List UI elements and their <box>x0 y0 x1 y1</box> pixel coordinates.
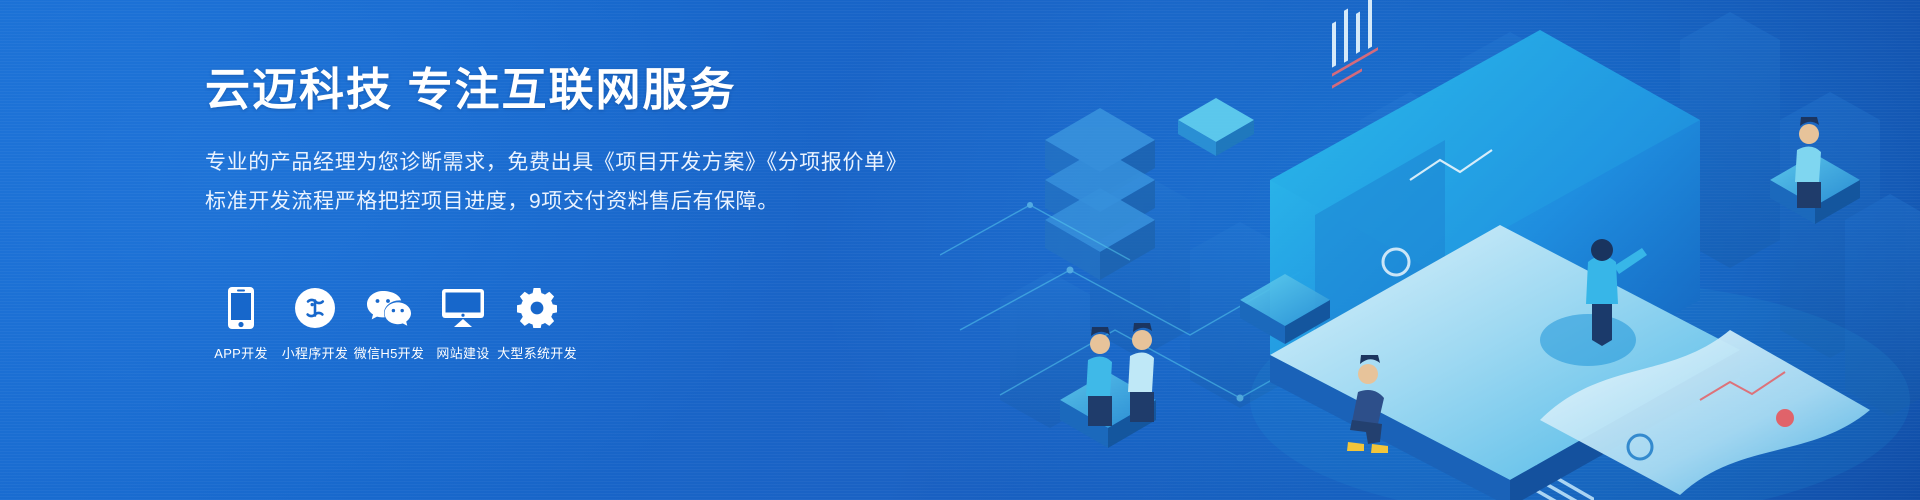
service-label-large-system: 大型系统开发 <box>497 343 577 362</box>
service-label-wechat-h5: 微信H5开发 <box>354 343 424 362</box>
mini-program-icon <box>295 286 335 330</box>
service-label-mini-program: 小程序开发 <box>282 343 349 362</box>
copy-block: 云迈科技 专注互联网服务 专业的产品经理为您诊断需求，免费出具《项目开发方案》《… <box>205 62 905 222</box>
hero-banner: 云迈科技 专注互联网服务 专业的产品经理为您诊断需求，免费出具《项目开发方案》《… <box>0 0 1920 500</box>
subtitle-line-2: 标准开发流程严格把控项目进度，9项交付资料售后有保障。 <box>205 183 905 222</box>
service-list: APP开发 小程序开发 <box>205 286 575 362</box>
service-item-large-system[interactable]: 大型系统开发 <box>501 286 573 362</box>
service-item-app[interactable]: APP开发 <box>205 286 277 362</box>
mobile-phone-icon <box>228 286 254 330</box>
service-label-app: APP开发 <box>214 343 268 362</box>
service-item-mini-program[interactable]: 小程序开发 <box>279 286 351 362</box>
floating-mini-card <box>1178 98 1254 156</box>
server-stack <box>1045 108 1155 280</box>
gear-icon <box>517 286 557 330</box>
subtitle-block: 专业的产品经理为您诊断需求，免费出具《项目开发方案》《分项报价单》 标准开发流程… <box>205 144 905 222</box>
page-title: 云迈科技 专注互联网服务 <box>205 62 905 118</box>
subtitle-line-1: 专业的产品经理为您诊断需求，免费出具《项目开发方案》《分项报价单》 <box>205 144 905 183</box>
monitor-icon <box>442 286 484 330</box>
illustration-isometric-dashboard <box>940 0 1920 500</box>
service-item-website[interactable]: 网站建设 <box>427 286 499 362</box>
service-label-website: 网站建设 <box>436 343 489 362</box>
service-item-wechat-h5[interactable]: 微信H5开发 <box>353 286 425 362</box>
wechat-icon <box>367 286 411 330</box>
